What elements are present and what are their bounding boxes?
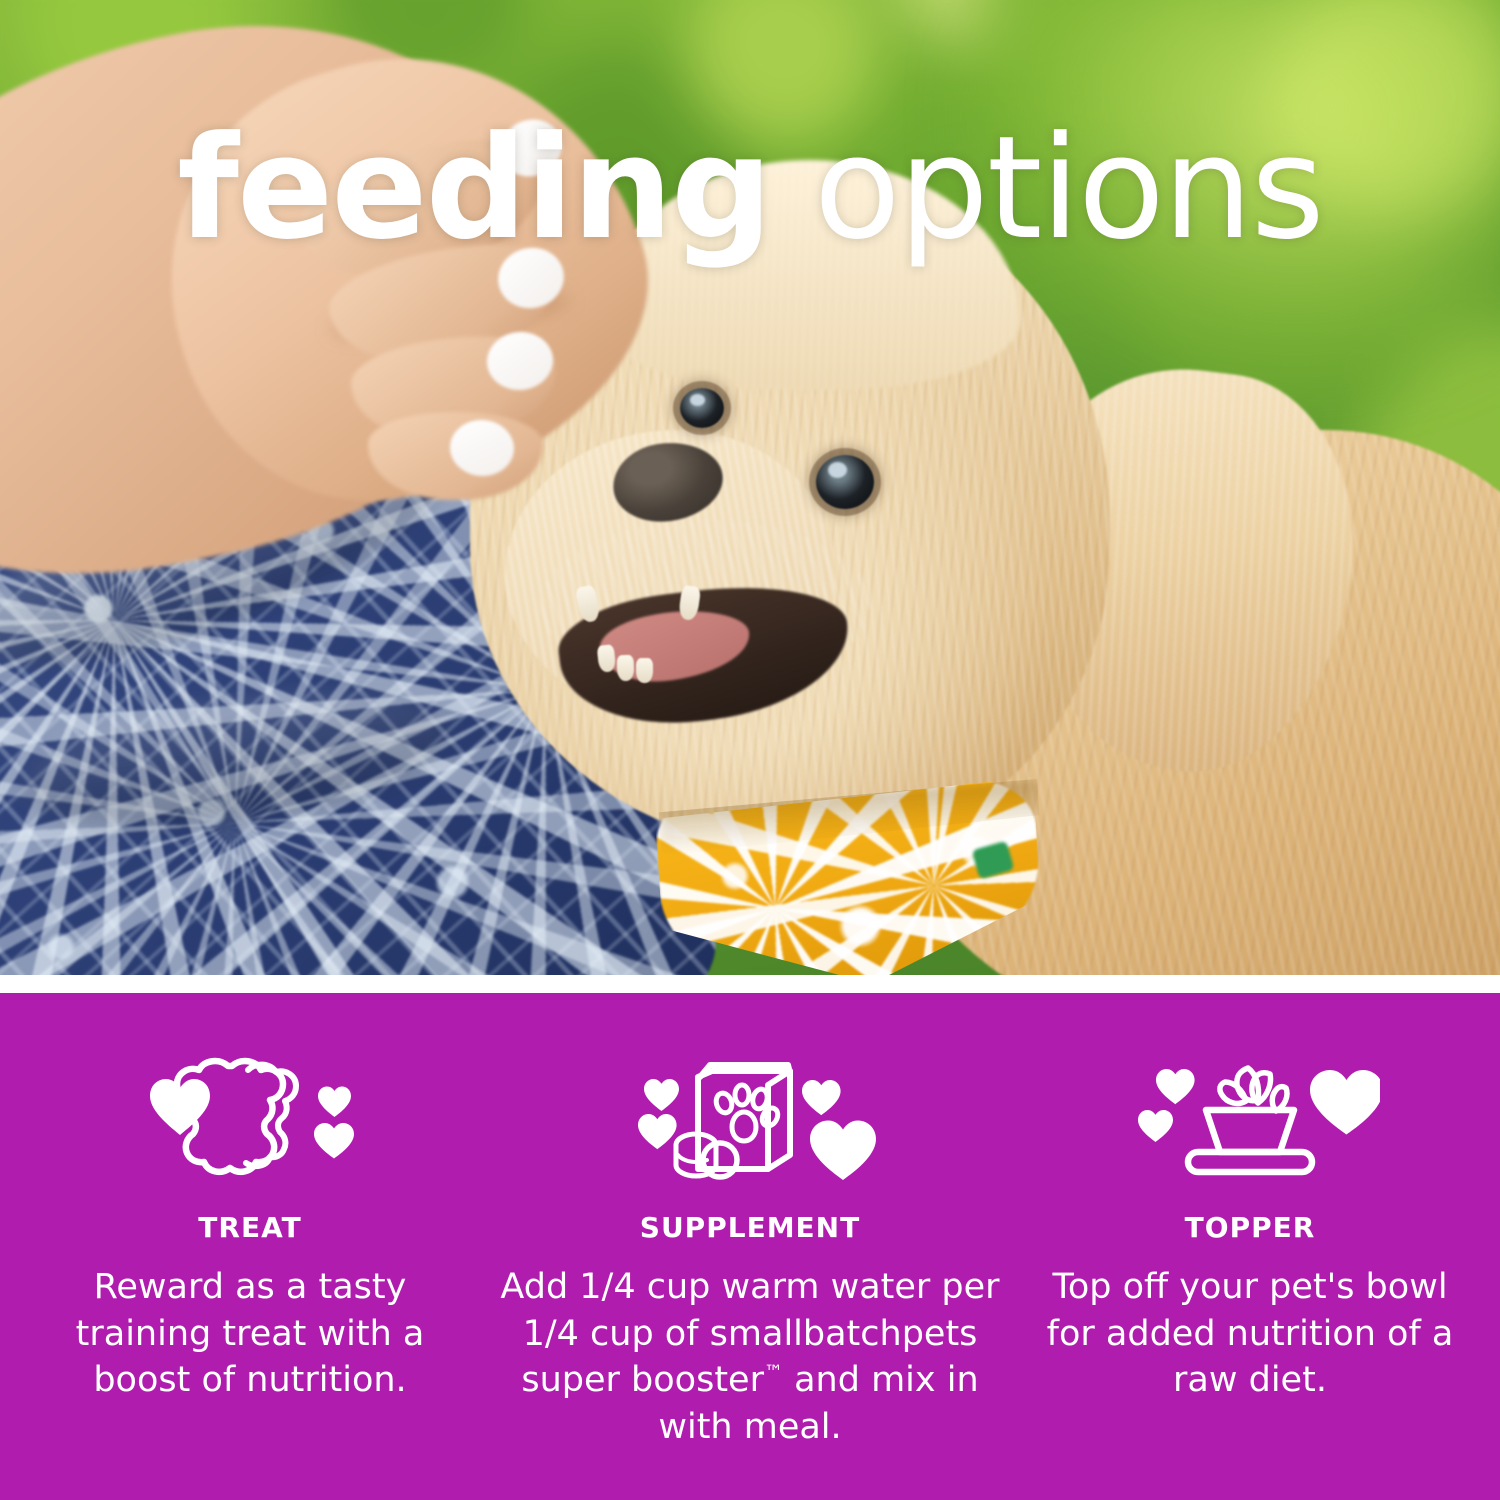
- dog-tooth: [636, 658, 653, 683]
- option-topper: TOPPER Top off your pet's bowl for added…: [1000, 993, 1500, 1500]
- option-description-treat: Reward as a tasty training treat with a …: [30, 1264, 470, 1404]
- dog-eye-left: [680, 388, 724, 428]
- option-title-topper: TOPPER: [1185, 1211, 1316, 1244]
- option-description-topper: Top off your pet's bowl for added nutrit…: [1035, 1264, 1465, 1404]
- dog-eye-highlight: [690, 394, 705, 406]
- option-treat: TREAT Reward as a tasty training treat w…: [0, 993, 500, 1500]
- infographic-page: feeding options: [0, 0, 1500, 1500]
- food-bag-with-paw-and-hearts-icon: [620, 1047, 880, 1187]
- trademark-symbol: ™: [764, 1361, 783, 1383]
- dog-eye-highlight: [828, 462, 847, 478]
- option-description-supplement: Add 1/4 cup warm water per 1/4 cup of sm…: [500, 1264, 1000, 1450]
- page-title-bold: feeding: [177, 106, 770, 271]
- page-title: feeding options: [0, 118, 1500, 260]
- pet-food-bowl-with-hearts-icon: [1120, 1047, 1380, 1187]
- option-title-treat: TREAT: [198, 1211, 301, 1244]
- option-title-supplement: SUPPLEMENT: [640, 1211, 860, 1244]
- page-title-light: options: [771, 106, 1323, 271]
- dog-eye-right: [816, 455, 874, 509]
- dog-bone-with-hearts-icon: [140, 1047, 360, 1187]
- option-supplement: SUPPLEMENT Add 1/4 cup warm water per 1/…: [500, 993, 1000, 1500]
- dog-tooth: [617, 655, 635, 682]
- options-columns: TREAT Reward as a tasty training treat w…: [0, 993, 1500, 1500]
- hero-photo: feeding options: [0, 0, 1500, 975]
- feeding-options-panel: TREAT Reward as a tasty training treat w…: [0, 993, 1500, 1500]
